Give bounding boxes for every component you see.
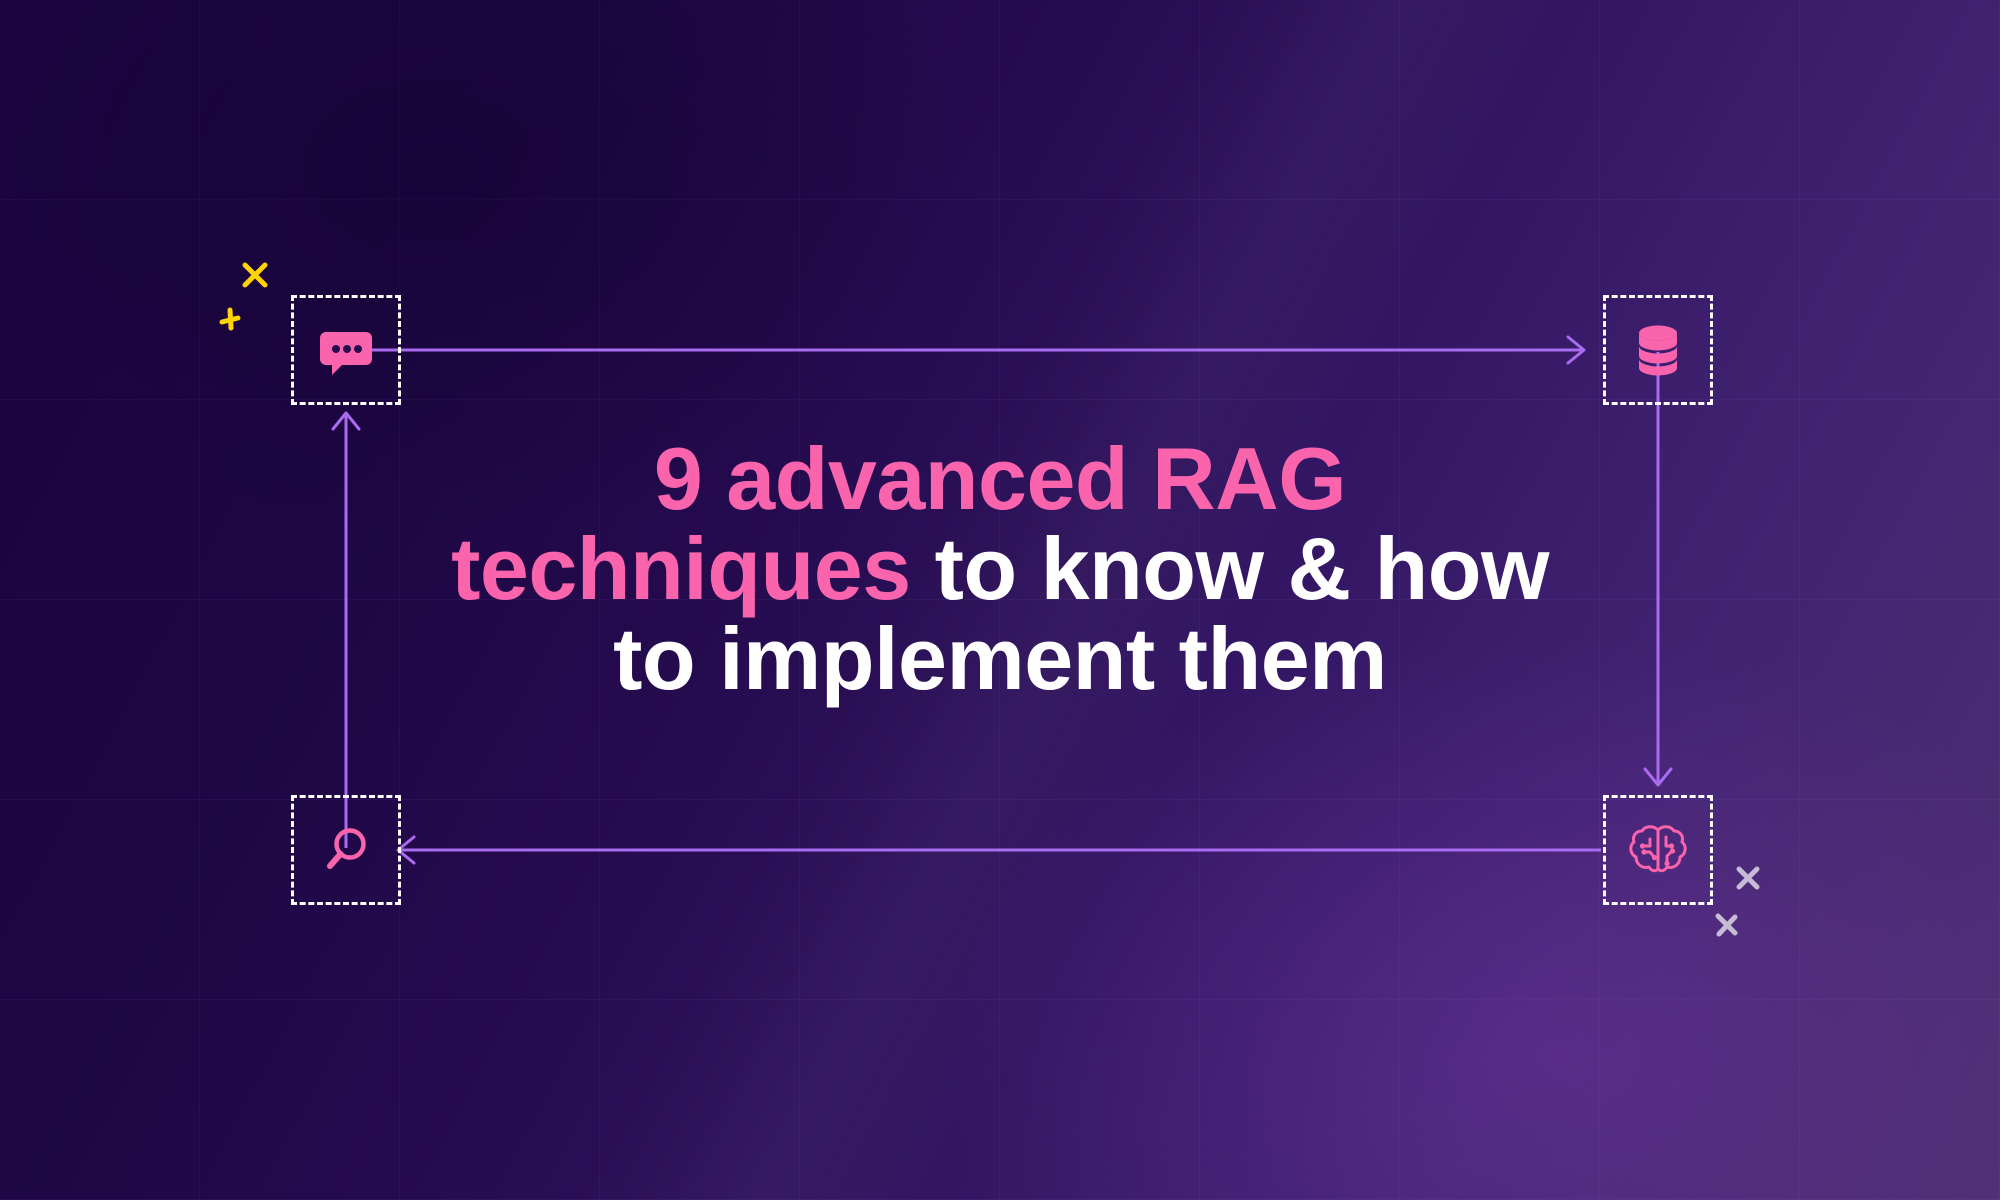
- connector-search-to-chat: [333, 413, 359, 848]
- connector-chat-to-database: [348, 337, 1584, 363]
- brain-circuit-icon: [1628, 821, 1688, 879]
- sparkle-x-icon-lower-right: [1708, 906, 1746, 944]
- headline-line-2-accent: techniques: [451, 519, 911, 618]
- headline-line-1: 9 advanced RAG: [410, 434, 1590, 524]
- connector-database-to-brain: [1645, 352, 1671, 785]
- headline-line-1-accent: 9 advanced RAG: [654, 429, 1346, 528]
- headline-line-3-plain: to implement them: [613, 609, 1387, 708]
- diagram-node-database[interactable]: [1603, 295, 1713, 405]
- headline-line-2: techniques to know & how: [410, 524, 1590, 614]
- sparkle-plus-icon: [212, 300, 248, 336]
- diagram-node-search[interactable]: [291, 795, 401, 905]
- headline-line-3: to implement them: [410, 614, 1590, 704]
- magnifier-icon: [319, 823, 373, 877]
- sparkle-x-icon-upper-right: [1728, 858, 1768, 898]
- headline-line-2-plain: to know & how: [911, 519, 1549, 618]
- chat-bubble-icon: [317, 321, 375, 379]
- sparkle-x-icon: [233, 253, 277, 297]
- diagram-node-brain[interactable]: [1603, 795, 1713, 905]
- diagram-node-chat[interactable]: [291, 295, 401, 405]
- connector-brain-to-search: [398, 837, 1601, 863]
- poster-canvas: 9 advanced RAG techniques to know & how …: [0, 0, 2000, 1200]
- database-icon: [1631, 321, 1685, 379]
- page-title: 9 advanced RAG techniques to know & how …: [410, 434, 1590, 703]
